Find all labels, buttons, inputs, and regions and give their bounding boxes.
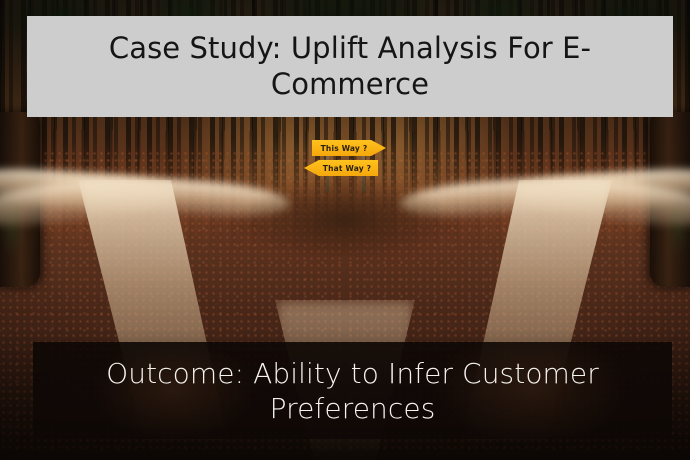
slide-title: Case Study: Uplift Analysis For E-Commer…	[45, 31, 655, 102]
outcome-banner: Outcome: Ability to Infer Customer Prefe…	[33, 342, 672, 439]
title-banner: Case Study: Uplift Analysis For E-Commer…	[27, 16, 673, 117]
slide-canvas: This Way ? That Way ? Case Study: Uplift…	[0, 0, 690, 460]
sign-this-way: This Way ?	[312, 140, 386, 156]
outcome-text: Outcome: Ability to Infer Customer Prefe…	[49, 356, 656, 426]
signpost: This Way ? That Way ?	[296, 136, 396, 192]
sign-that-way: That Way ?	[304, 160, 378, 176]
